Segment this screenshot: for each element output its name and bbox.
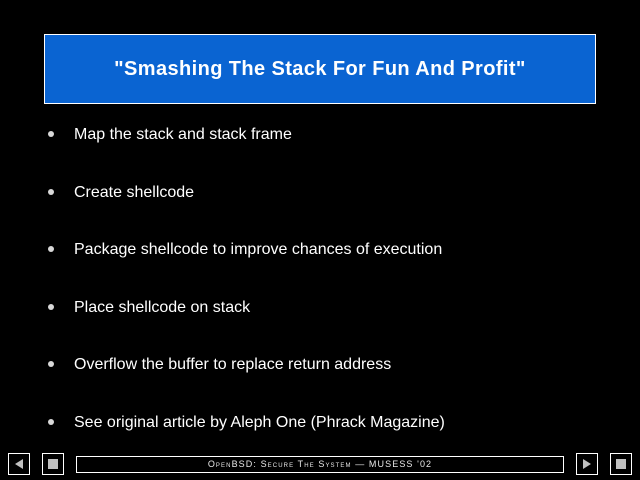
list-item: Overflow the buffer to replace return ad… bbox=[0, 352, 640, 410]
list-item-label: Create shellcode bbox=[74, 180, 194, 204]
bullet-dot-icon bbox=[44, 352, 58, 367]
nav-right-group bbox=[576, 453, 632, 475]
prev-slide-button[interactable] bbox=[8, 453, 30, 475]
list-item-label: Place shellcode on stack bbox=[74, 295, 250, 319]
slide-title: "Smashing The Stack For Fun And Profit" bbox=[114, 58, 526, 81]
list-item: Place shellcode on stack bbox=[0, 295, 640, 353]
first-slide-button[interactable] bbox=[42, 453, 64, 475]
footer-title-bar: OpenBSD: Secure The System — MUSESS '02 bbox=[76, 456, 564, 473]
list-item: Create shellcode bbox=[0, 180, 640, 238]
square-icon bbox=[48, 459, 58, 469]
bullet-dot-icon bbox=[44, 237, 58, 252]
last-slide-button[interactable] bbox=[610, 453, 632, 475]
slide-footer: OpenBSD: Secure The System — MUSESS '02 bbox=[0, 448, 640, 480]
list-item: Map the stack and stack frame bbox=[0, 122, 640, 180]
list-item: Package shellcode to improve chances of … bbox=[0, 237, 640, 295]
slide-title-box: "Smashing The Stack For Fun And Profit" bbox=[44, 34, 596, 104]
list-item-label: Overflow the buffer to replace return ad… bbox=[74, 352, 391, 376]
list-item-label: See original article by Aleph One (Phrac… bbox=[74, 410, 445, 434]
triangle-left-icon bbox=[15, 459, 23, 469]
bullet-dot-icon bbox=[44, 410, 58, 425]
list-item-label: Package shellcode to improve chances of … bbox=[74, 237, 442, 261]
footer-title: OpenBSD: Secure The System — MUSESS '02 bbox=[208, 459, 432, 469]
bullet-list: Map the stack and stack frame Create she… bbox=[0, 122, 640, 467]
bullet-dot-icon bbox=[44, 122, 58, 137]
list-item-label: Map the stack and stack frame bbox=[74, 122, 292, 146]
next-slide-button[interactable] bbox=[576, 453, 598, 475]
bullet-dot-icon bbox=[44, 295, 58, 310]
presentation-slide: "Smashing The Stack For Fun And Profit" … bbox=[0, 0, 640, 480]
square-icon bbox=[616, 459, 626, 469]
bullet-dot-icon bbox=[44, 180, 58, 195]
nav-left-group bbox=[8, 453, 64, 475]
triangle-right-icon bbox=[583, 459, 591, 469]
